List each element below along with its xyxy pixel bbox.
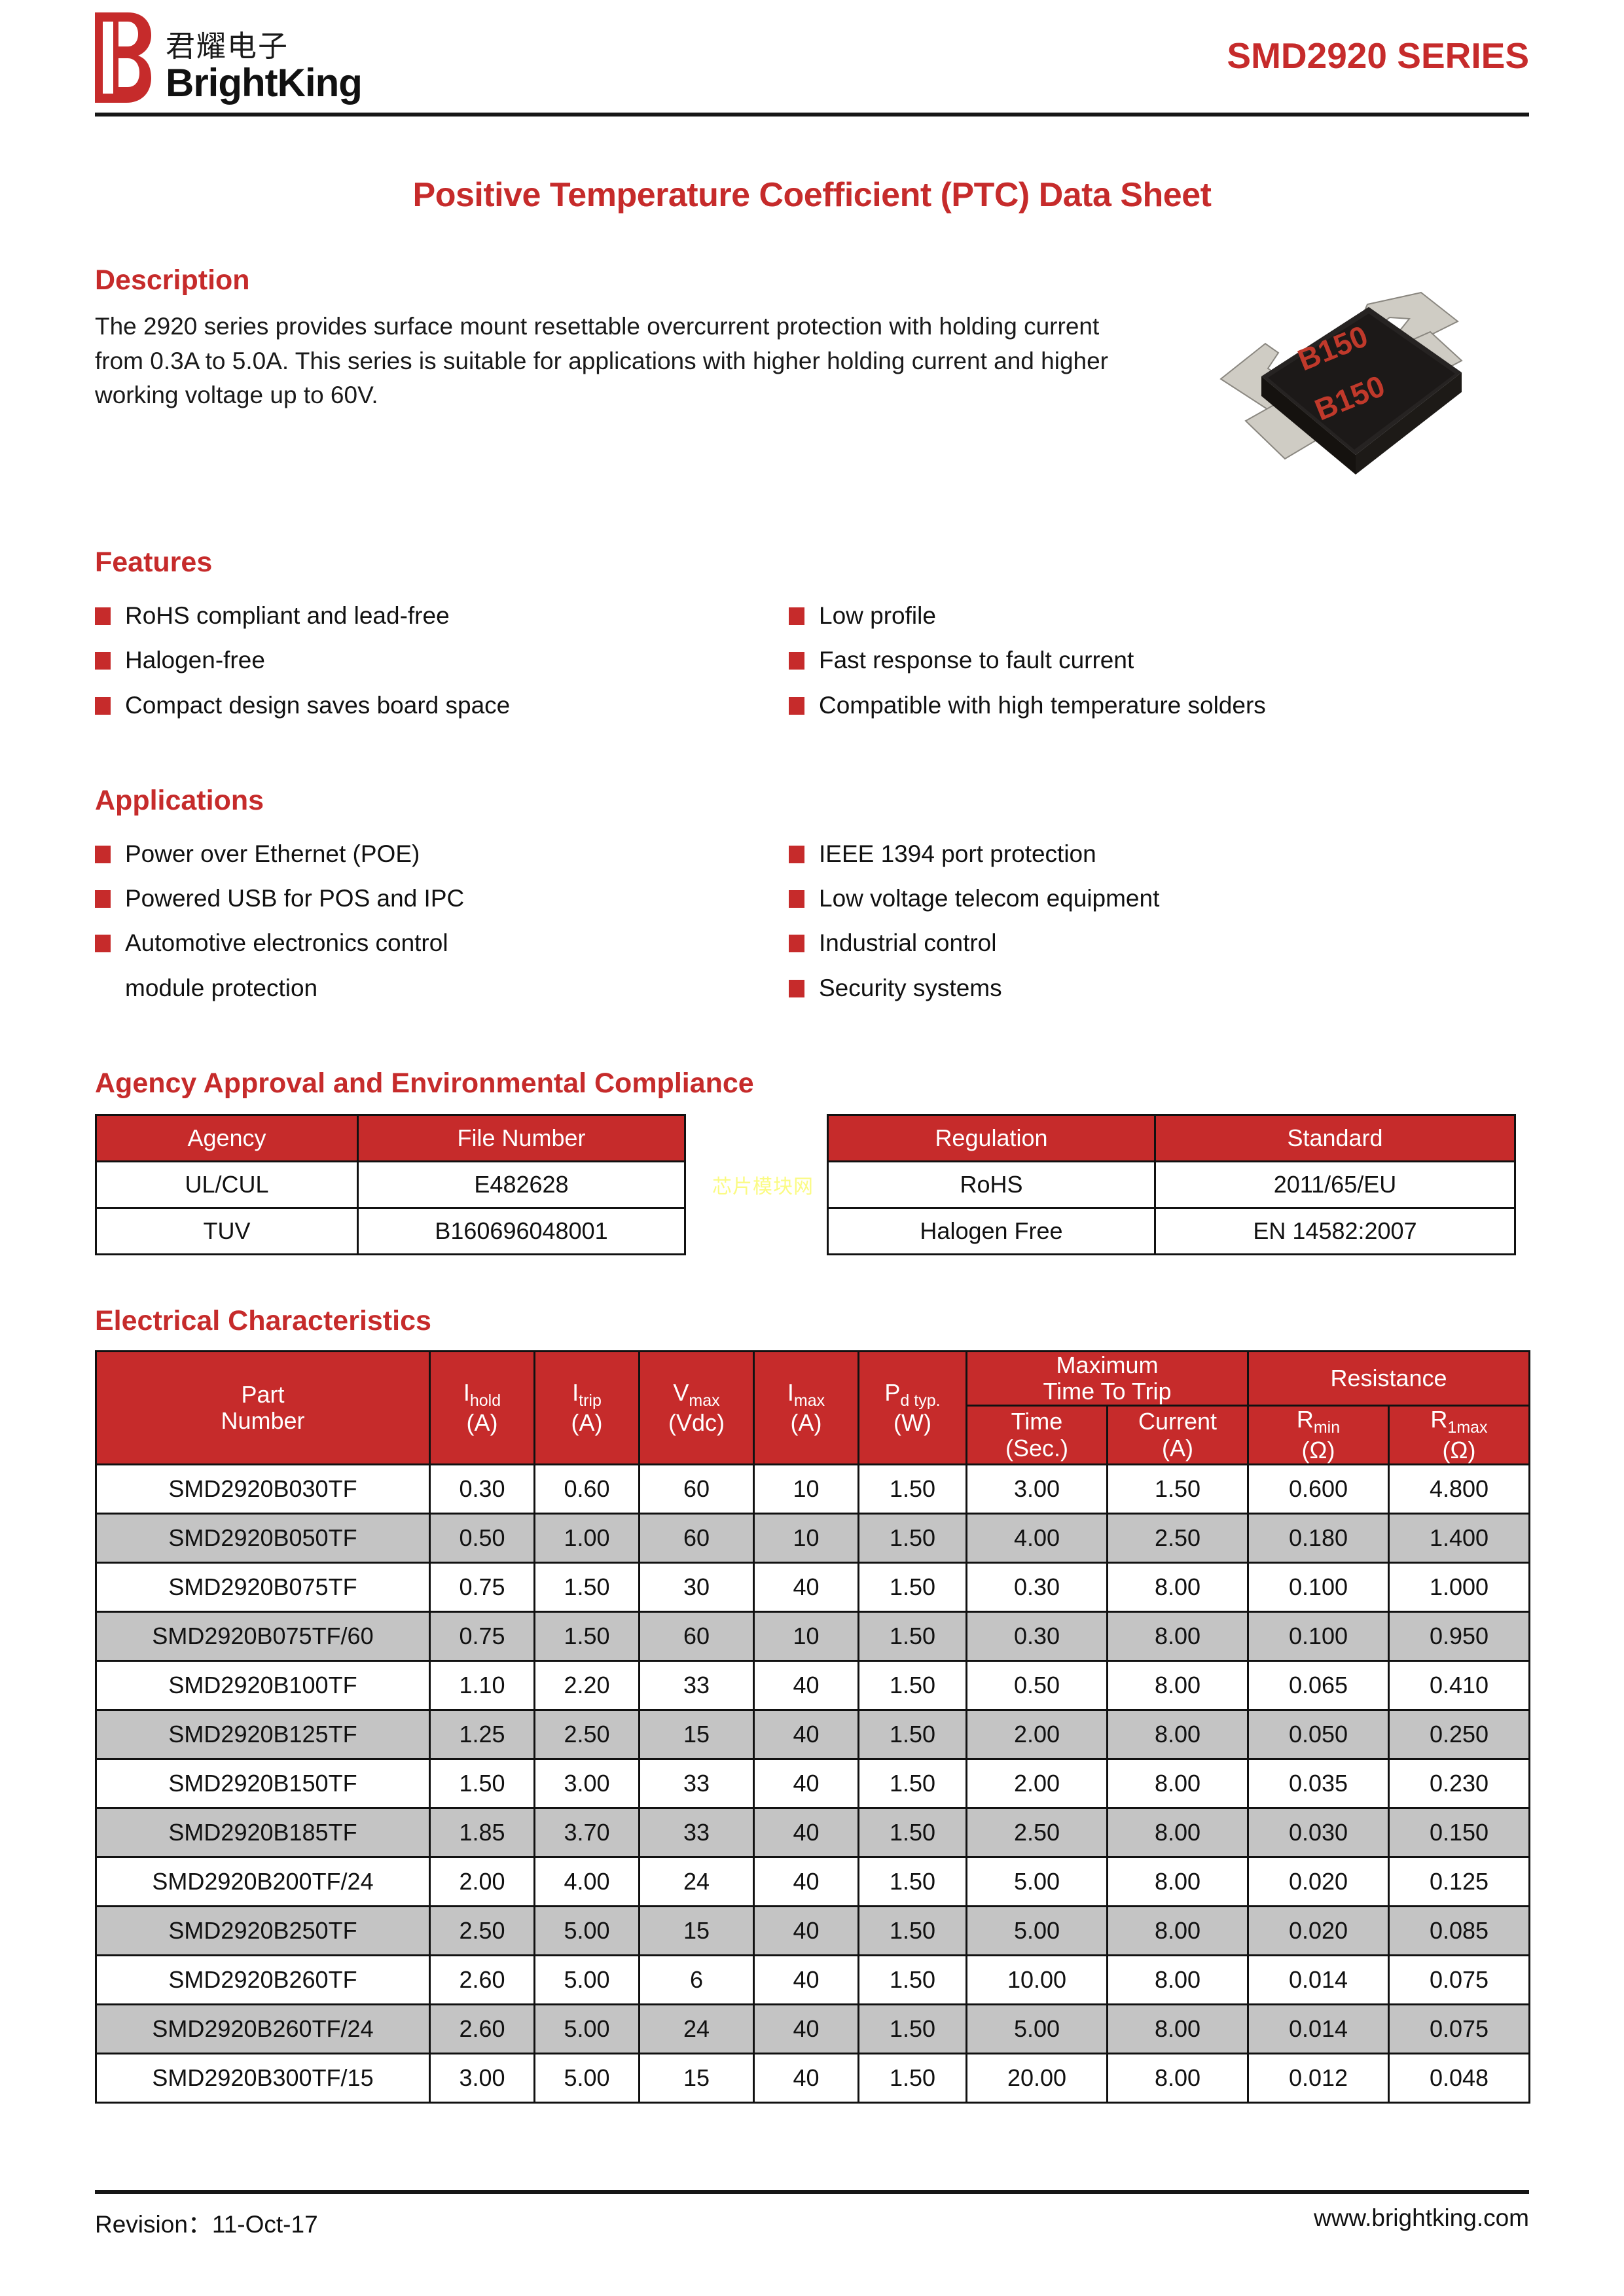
cell-imax: 40 <box>754 1906 859 1955</box>
bullet-square-icon <box>95 846 111 863</box>
electrical-table-body: SMD2920B030TF0.300.6060101.503.001.500.6… <box>96 1464 1530 2102</box>
list-item: Low profile <box>789 601 1483 631</box>
cell-ihold: 2.00 <box>430 1857 535 1906</box>
cell-part-number: SMD2920B260TF <box>96 1955 430 2004</box>
column-header-file-number: File Number <box>358 1115 685 1161</box>
cell-trip-current: 8.00 <box>1108 1611 1248 1660</box>
column-group-header-max-time-to-trip: Maximum Time To Trip <box>967 1351 1248 1406</box>
cell-itrip: 5.00 <box>535 2004 640 2053</box>
cell-trip-time: 0.30 <box>967 1611 1108 1660</box>
page-footer: Revision：11-Oct-17 www.brightking.com <box>95 2190 1529 2240</box>
list-item-label: Compatible with high temperature solders <box>819 691 1266 721</box>
column-header-rmin: Rmin (Ω) <box>1248 1406 1389 1465</box>
cell-rmin: 0.014 <box>1248 1955 1389 2004</box>
list-item-label: Automotive electronics control <box>125 928 448 958</box>
cell-part-number: SMD2920B125TF <box>96 1710 430 1759</box>
column-header-itrip: Itrip (A) <box>535 1351 640 1464</box>
cell-trip-current: 8.00 <box>1108 1955 1248 2004</box>
cell-pd: 1.50 <box>859 2004 967 2053</box>
cell-vmax: 24 <box>640 2004 754 2053</box>
table-row: UL/CUL E482628 <box>96 1161 685 1208</box>
cell-vmax: 60 <box>640 1513 754 1562</box>
cell-rmin: 0.050 <box>1248 1710 1389 1759</box>
table-row: SMD2920B075TF0.751.5030401.500.308.000.1… <box>96 1562 1530 1611</box>
list-item: Industrial control <box>789 928 1483 958</box>
cell-trip-time: 10.00 <box>967 1955 1108 2004</box>
cell-trip-time: 5.00 <box>967 1857 1108 1906</box>
cell-ihold: 1.85 <box>430 1808 535 1857</box>
cell-itrip: 3.70 <box>535 1808 640 1857</box>
list-item-label: Power over Ethernet (POE) <box>125 839 420 869</box>
cell-r1max: 0.048 <box>1389 2053 1530 2102</box>
cell-imax: 10 <box>754 1464 859 1513</box>
cell-pd: 1.50 <box>859 1857 967 1906</box>
cell-trip-current: 8.00 <box>1108 1660 1248 1710</box>
cell-trip-current: 1.50 <box>1108 1464 1248 1513</box>
list-item-label: Compact design saves board space <box>125 691 510 721</box>
section-heading-agency: Agency Approval and Environmental Compli… <box>95 1067 1529 1100</box>
table-row: SMD2920B260TF/242.605.0024401.505.008.00… <box>96 2004 1530 2053</box>
cell-r1max: 0.150 <box>1389 1808 1530 1857</box>
logo-wordmark: 君耀电子 BrightKing <box>166 31 362 103</box>
cell-part-number: SMD2920B200TF/24 <box>96 1857 430 1906</box>
cell-vmax: 33 <box>640 1660 754 1710</box>
cell-r1max: 4.800 <box>1389 1464 1530 1513</box>
logo-english-name: BrightKing <box>166 64 362 101</box>
revision-text: Revision：11-Oct-17 <box>95 2204 318 2240</box>
table-row: SMD2920B030TF0.300.6060101.503.001.500.6… <box>96 1464 1530 1513</box>
features-list: RoHS compliant and lead-free Halogen-fre… <box>95 601 1529 735</box>
cell-part-number: SMD2920B300TF/15 <box>96 2053 430 2102</box>
brand-logo: 君耀电子 BrightKing <box>95 12 362 103</box>
cell-rmin: 0.100 <box>1248 1611 1389 1660</box>
cell-file-number: B160696048001 <box>358 1208 685 1254</box>
cell-vmax: 60 <box>640 1464 754 1513</box>
column-header-standard: Standard <box>1155 1115 1515 1161</box>
cell-pd: 1.50 <box>859 2053 967 2102</box>
list-item: Halogen-free <box>95 645 789 675</box>
cell-part-number: SMD2920B260TF/24 <box>96 2004 430 2053</box>
table-row: RoHS 2011/65/EU <box>828 1161 1515 1208</box>
list-item: IEEE 1394 port protection <box>789 839 1483 869</box>
electrical-characteristics-table: Part Number Ihold (A) Itrip (A) Vmax (Vd… <box>95 1350 1530 2104</box>
column-header-regulation: Regulation <box>828 1115 1155 1161</box>
cell-vmax: 30 <box>640 1562 754 1611</box>
list-item: Powered USB for POS and IPC <box>95 884 789 914</box>
list-item: Automotive electronics control <box>95 928 789 958</box>
cell-r1max: 0.230 <box>1389 1759 1530 1808</box>
cell-trip-current: 8.00 <box>1108 2004 1248 2053</box>
cell-rmin: 0.100 <box>1248 1562 1389 1611</box>
logo-chinese-name: 君耀电子 <box>166 31 362 61</box>
cell-regulation: RoHS <box>828 1161 1155 1208</box>
cell-pd: 1.50 <box>859 1513 967 1562</box>
cell-ihold: 2.50 <box>430 1906 535 1955</box>
cell-ihold: 2.60 <box>430 1955 535 2004</box>
cell-rmin: 0.020 <box>1248 1906 1389 1955</box>
watermark-text: 芯片模块网 <box>712 1170 814 1199</box>
column-header-r1max: R1max (Ω) <box>1389 1406 1530 1465</box>
cell-itrip: 3.00 <box>535 1759 640 1808</box>
cell-r1max: 0.085 <box>1389 1906 1530 1955</box>
column-header-trip-current: Current (A) <box>1108 1406 1248 1465</box>
cell-itrip: 1.50 <box>535 1562 640 1611</box>
cell-itrip: 1.50 <box>535 1611 640 1660</box>
cell-itrip: 4.00 <box>535 1857 640 1906</box>
column-header-vmax: Vmax (Vdc) <box>640 1351 754 1464</box>
cell-trip-time: 0.30 <box>967 1562 1108 1611</box>
cell-rmin: 0.065 <box>1248 1660 1389 1710</box>
list-item-label: Fast response to fault current <box>819 645 1134 675</box>
bullet-square-icon <box>789 846 804 863</box>
cell-part-number: SMD2920B075TF/60 <box>96 1611 430 1660</box>
cell-r1max: 0.125 <box>1389 1857 1530 1906</box>
agency-approval-table: Agency File Number UL/CUL E482628 TUV B1… <box>95 1114 686 1255</box>
list-item: Low voltage telecom equipment <box>789 884 1483 914</box>
cell-trip-current: 8.00 <box>1108 1857 1248 1906</box>
table-row: SMD2920B260TF2.605.006401.5010.008.000.0… <box>96 1955 1530 2004</box>
cell-imax: 40 <box>754 1562 859 1611</box>
list-item-label: Security systems <box>819 973 1002 1003</box>
cell-trip-current: 8.00 <box>1108 1710 1248 1759</box>
cell-imax: 10 <box>754 1611 859 1660</box>
table-row: SMD2920B050TF0.501.0060101.504.002.500.1… <box>96 1513 1530 1562</box>
cell-r1max: 0.075 <box>1389 2004 1530 2053</box>
cell-trip-time: 0.50 <box>967 1660 1108 1710</box>
datasheet-page: 君耀电子 BrightKing SMD2920 SERIES Positive … <box>0 0 1624 2296</box>
tables-gap: 芯片模块网 <box>686 1114 827 1255</box>
cell-trip-current: 8.00 <box>1108 1562 1248 1611</box>
cell-ihold: 1.10 <box>430 1660 535 1710</box>
list-item: Power over Ethernet (POE) <box>95 839 789 869</box>
bullet-square-icon <box>95 890 111 908</box>
cell-pd: 1.50 <box>859 1464 967 1513</box>
bullet-square-icon <box>789 935 804 952</box>
column-header-ihold: Ihold (A) <box>430 1351 535 1464</box>
page-title: Positive Temperature Coefficient (PTC) D… <box>95 175 1529 215</box>
cell-itrip: 5.00 <box>535 1955 640 2004</box>
cell-imax: 40 <box>754 2053 859 2102</box>
cell-file-number: E482628 <box>358 1161 685 1208</box>
cell-itrip: 5.00 <box>535 1906 640 1955</box>
list-item-label: module protection <box>125 973 317 1003</box>
cell-imax: 40 <box>754 1759 859 1808</box>
cell-trip-current: 8.00 <box>1108 1759 1248 1808</box>
bullet-square-icon <box>789 890 804 908</box>
cell-rmin: 0.030 <box>1248 1808 1389 1857</box>
cell-trip-time: 2.50 <box>967 1808 1108 1857</box>
bullet-square-icon <box>789 607 804 625</box>
cell-trip-current: 8.00 <box>1108 1906 1248 1955</box>
series-title: SMD2920 SERIES <box>1227 35 1529 81</box>
cell-itrip: 0.60 <box>535 1464 640 1513</box>
page-header: 君耀电子 BrightKing SMD2920 SERIES <box>95 0 1529 115</box>
cell-vmax: 15 <box>640 2053 754 2102</box>
cell-ihold: 1.25 <box>430 1710 535 1759</box>
cell-agency: UL/CUL <box>96 1161 358 1208</box>
cell-part-number: SMD2920B050TF <box>96 1513 430 1562</box>
table-header-row: Agency File Number <box>96 1115 685 1161</box>
bullet-square-icon <box>95 697 111 715</box>
cell-regulation: Halogen Free <box>828 1208 1155 1254</box>
cell-r1max: 0.250 <box>1389 1710 1530 1759</box>
cell-trip-time: 4.00 <box>967 1513 1108 1562</box>
cell-rmin: 0.020 <box>1248 1857 1389 1906</box>
applications-column-left: Power over Ethernet (POE) Powered USB fo… <box>95 839 789 1018</box>
cell-part-number: SMD2920B100TF <box>96 1660 430 1710</box>
bullet-square-icon <box>789 697 804 715</box>
cell-part-number: SMD2920B075TF <box>96 1562 430 1611</box>
features-column-right: Low profile Fast response to fault curre… <box>789 601 1483 735</box>
table-header-row-1: Part Number Ihold (A) Itrip (A) Vmax (Vd… <box>96 1351 1530 1406</box>
table-row: SMD2920B075TF/600.751.5060101.500.308.00… <box>96 1611 1530 1660</box>
cell-rmin: 0.600 <box>1248 1464 1389 1513</box>
list-item-label: Industrial control <box>819 928 996 958</box>
bullet-square-icon <box>789 652 804 670</box>
cell-trip-current: 8.00 <box>1108 1808 1248 1857</box>
column-header-trip-time: Time (Sec.) <box>967 1406 1108 1465</box>
list-item: Fast response to fault current <box>789 645 1483 675</box>
list-item: Compact design saves board space <box>95 691 789 721</box>
cell-standard: EN 14582:2007 <box>1155 1208 1515 1254</box>
cell-imax: 40 <box>754 1857 859 1906</box>
section-heading-features: Features <box>95 547 1529 579</box>
cell-r1max: 0.950 <box>1389 1611 1530 1660</box>
column-header-pd: Pd typ. (W) <box>859 1351 967 1464</box>
cell-pd: 1.50 <box>859 1562 967 1611</box>
cell-ihold: 0.30 <box>430 1464 535 1513</box>
column-header-part-number: Part Number <box>96 1351 430 1464</box>
website-link[interactable]: www.brightking.com <box>1314 2204 1529 2240</box>
cell-agency: TUV <box>96 1208 358 1254</box>
cell-trip-current: 8.00 <box>1108 2053 1248 2102</box>
table-row: SMD2920B300TF/153.005.0015401.5020.008.0… <box>96 2053 1530 2102</box>
cell-ihold: 3.00 <box>430 2053 535 2102</box>
cell-imax: 40 <box>754 1955 859 2004</box>
description-text: The 2920 series provides surface mount r… <box>95 310 1116 413</box>
table-row: Halogen Free EN 14582:2007 <box>828 1208 1515 1254</box>
table-row: SMD2920B100TF1.102.2033401.500.508.000.0… <box>96 1660 1530 1710</box>
list-item-label: Powered USB for POS and IPC <box>125 884 464 914</box>
cell-imax: 40 <box>754 2004 859 2053</box>
description-block: The 2920 series provides surface mount r… <box>95 310 1529 497</box>
cell-r1max: 1.400 <box>1389 1513 1530 1562</box>
list-item-label: Halogen-free <box>125 645 265 675</box>
cell-standard: 2011/65/EU <box>1155 1161 1515 1208</box>
column-header-imax: Imax (A) <box>754 1351 859 1464</box>
cell-part-number: SMD2920B030TF <box>96 1464 430 1513</box>
cell-trip-time: 2.00 <box>967 1759 1108 1808</box>
cell-part-number: SMD2920B150TF <box>96 1759 430 1808</box>
applications-list: Power over Ethernet (POE) Powered USB fo… <box>95 839 1529 1018</box>
bullet-square-icon <box>789 980 804 997</box>
cell-vmax: 60 <box>640 1611 754 1660</box>
cell-itrip: 5.00 <box>535 2053 640 2102</box>
list-item-label: IEEE 1394 port protection <box>819 839 1096 869</box>
cell-vmax: 6 <box>640 1955 754 2004</box>
cell-imax: 40 <box>754 1660 859 1710</box>
cell-imax: 10 <box>754 1513 859 1562</box>
cell-trip-time: 3.00 <box>967 1464 1108 1513</box>
cell-pd: 1.50 <box>859 1759 967 1808</box>
cell-ihold: 0.50 <box>430 1513 535 1562</box>
agency-tables: Agency File Number UL/CUL E482628 TUV B1… <box>95 1114 1529 1255</box>
cell-imax: 40 <box>754 1710 859 1759</box>
table-row: SMD2920B150TF1.503.0033401.502.008.000.0… <box>96 1759 1530 1808</box>
features-column-left: RoHS compliant and lead-free Halogen-fre… <box>95 601 789 735</box>
list-item: RoHS compliant and lead-free <box>95 601 789 631</box>
cell-itrip: 1.00 <box>535 1513 640 1562</box>
cell-pd: 1.50 <box>859 1611 967 1660</box>
cell-vmax: 24 <box>640 1857 754 1906</box>
cell-ihold: 0.75 <box>430 1611 535 1660</box>
cell-r1max: 1.000 <box>1389 1562 1530 1611</box>
bk-logo-icon <box>95 12 151 103</box>
cell-vmax: 15 <box>640 1906 754 1955</box>
cell-part-number: SMD2920B185TF <box>96 1808 430 1857</box>
cell-itrip: 2.20 <box>535 1660 640 1710</box>
table-row: SMD2920B185TF1.853.7033401.502.508.000.0… <box>96 1808 1530 1857</box>
cell-trip-time: 20.00 <box>967 2053 1108 2102</box>
cell-r1max: 0.075 <box>1389 1955 1530 2004</box>
cell-rmin: 0.012 <box>1248 2053 1389 2102</box>
cell-pd: 1.50 <box>859 1955 967 2004</box>
cell-trip-time: 5.00 <box>967 1906 1108 1955</box>
bullet-square-icon <box>95 607 111 625</box>
cell-trip-time: 2.00 <box>967 1710 1108 1759</box>
cell-itrip: 2.50 <box>535 1710 640 1759</box>
cell-vmax: 15 <box>640 1710 754 1759</box>
cell-rmin: 0.180 <box>1248 1513 1389 1562</box>
column-group-header-resistance: Resistance <box>1248 1351 1530 1406</box>
cell-trip-time: 5.00 <box>967 2004 1108 2053</box>
table-row: TUV B160696048001 <box>96 1208 685 1254</box>
cell-ihold: 0.75 <box>430 1562 535 1611</box>
applications-column-right: IEEE 1394 port protection Low voltage te… <box>789 839 1483 1018</box>
section-heading-applications: Applications <box>95 785 1529 817</box>
cell-part-number: SMD2920B250TF <box>96 1906 430 1955</box>
cell-pd: 1.50 <box>859 1906 967 1955</box>
cell-pd: 1.50 <box>859 1660 967 1710</box>
table-header-row: Regulation Standard <box>828 1115 1515 1161</box>
list-item-label: RoHS compliant and lead-free <box>125 601 450 631</box>
list-item: Compatible with high temperature solders <box>789 691 1483 721</box>
table-row: SMD2920B200TF/242.004.0024401.505.008.00… <box>96 1857 1530 1906</box>
cell-r1max: 0.410 <box>1389 1660 1530 1710</box>
bullet-square-icon <box>95 935 111 952</box>
column-header-agency: Agency <box>96 1115 358 1161</box>
cell-rmin: 0.035 <box>1248 1759 1389 1808</box>
list-item: Security systems <box>789 973 1483 1003</box>
cell-trip-current: 2.50 <box>1108 1513 1248 1562</box>
cell-ihold: 2.60 <box>430 2004 535 2053</box>
list-item-label: Low profile <box>819 601 936 631</box>
cell-rmin: 0.014 <box>1248 2004 1389 2053</box>
table-row: SMD2920B125TF1.252.5015401.502.008.000.0… <box>96 1710 1530 1759</box>
product-photo: B150 B150 <box>1205 281 1467 497</box>
compliance-table: Regulation Standard RoHS 2011/65/EU Halo… <box>827 1114 1516 1255</box>
list-item-label: Low voltage telecom equipment <box>819 884 1159 914</box>
cell-imax: 40 <box>754 1808 859 1857</box>
cell-ihold: 1.50 <box>430 1759 535 1808</box>
cell-vmax: 33 <box>640 1759 754 1808</box>
table-row: SMD2920B250TF2.505.0015401.505.008.000.0… <box>96 1906 1530 1955</box>
cell-pd: 1.50 <box>859 1808 967 1857</box>
section-heading-electrical: Electrical Characteristics <box>95 1305 1529 1337</box>
cell-vmax: 33 <box>640 1808 754 1857</box>
list-item-continuation: module protection <box>95 973 789 1003</box>
bullet-square-icon <box>95 652 111 670</box>
cell-pd: 1.50 <box>859 1710 967 1759</box>
